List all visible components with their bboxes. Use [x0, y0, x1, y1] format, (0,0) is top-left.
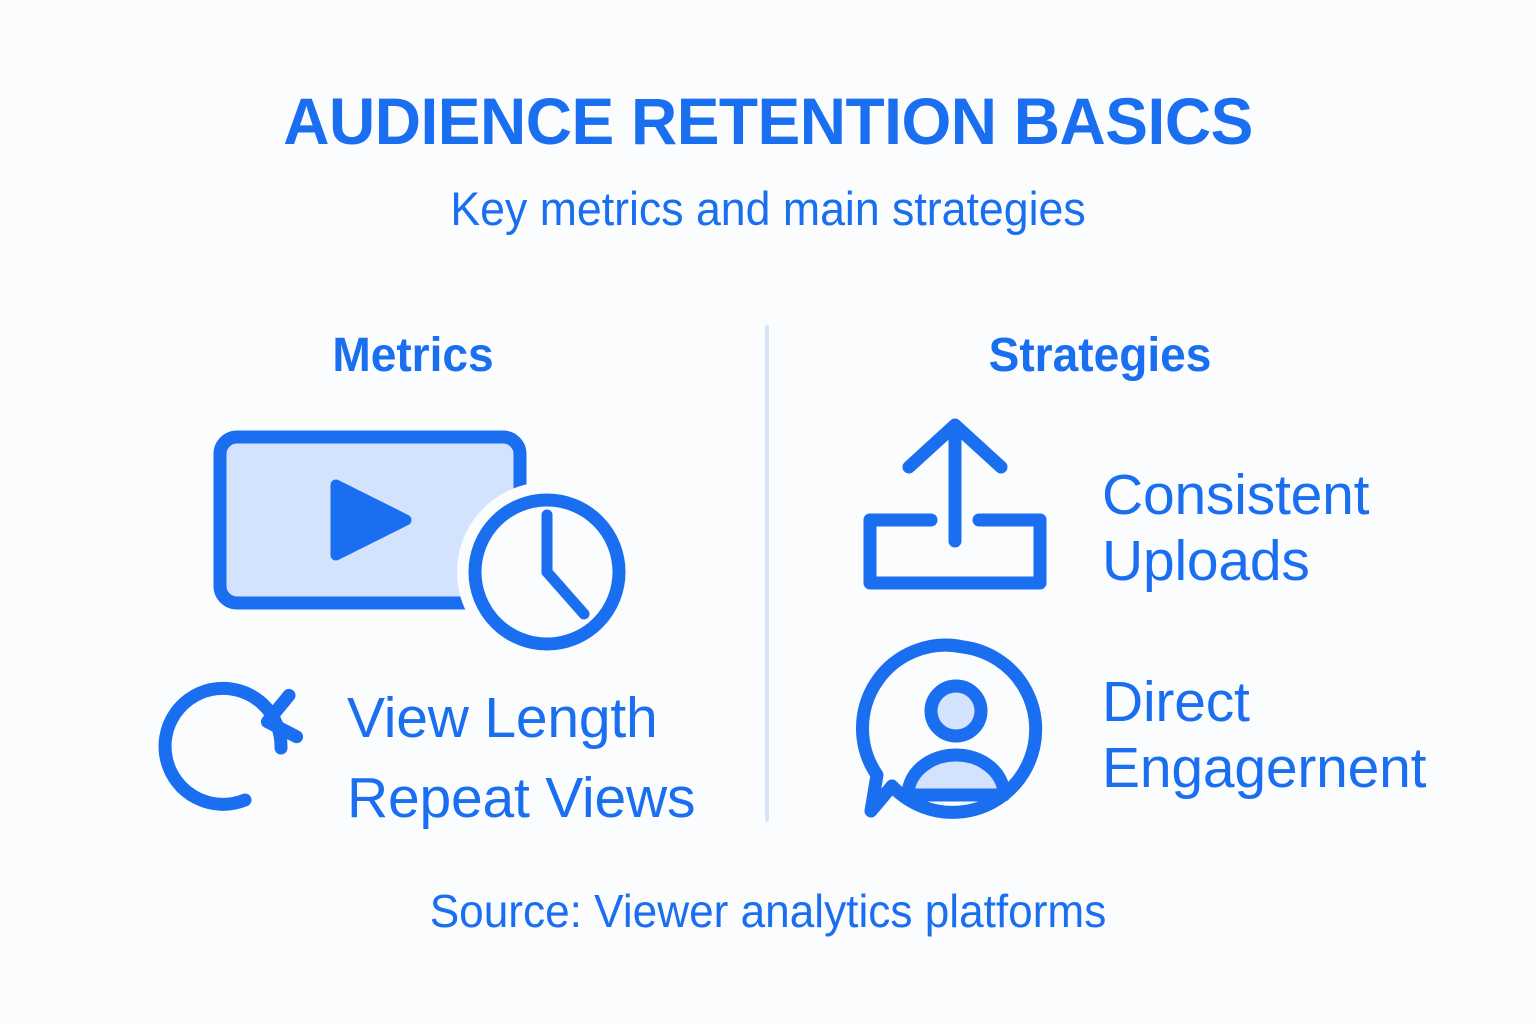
source-note: Source: Viewer analytics platforms — [31, 888, 1506, 934]
upload-arrow-icon — [845, 405, 1065, 605]
strategy-uploads-line2: Uploads — [1102, 528, 1369, 594]
repeat-arrow-icon — [145, 645, 345, 825]
video-player-clock-icon — [150, 415, 650, 665]
strategy-engagement-line1: Direct — [1102, 669, 1426, 735]
person-body — [908, 755, 1004, 795]
repeat-circle-path — [165, 688, 281, 804]
metric-label-view-length: View Length — [347, 690, 658, 747]
page-subtitle: Key metrics and main strategies — [38, 185, 1497, 232]
metric-label-repeat-views: Repeat Views — [347, 770, 695, 827]
clock-hour-hand — [547, 572, 584, 614]
page-title: AUDIENCE RETENTION BASICS — [23, 88, 1513, 154]
metrics-column-heading: Metrics — [309, 332, 516, 380]
column-divider — [765, 325, 769, 822]
repeat-arrowhead — [266, 692, 307, 737]
infographic-canvas: AUDIENCE RETENTION BASICS Key metrics an… — [0, 0, 1536, 1024]
strategy-engagement-line2: Engagernent — [1102, 735, 1426, 801]
speech-bubble-person-icon — [855, 635, 1070, 825]
strategy-label-direct-engagement: Direct Engagernent — [1102, 669, 1426, 801]
strategies-column-heading: Strategies — [961, 332, 1239, 380]
strategy-uploads-line1: Consistent — [1102, 462, 1369, 528]
person-head — [931, 686, 981, 736]
strategy-label-consistent-uploads: Consistent Uploads — [1102, 462, 1369, 594]
